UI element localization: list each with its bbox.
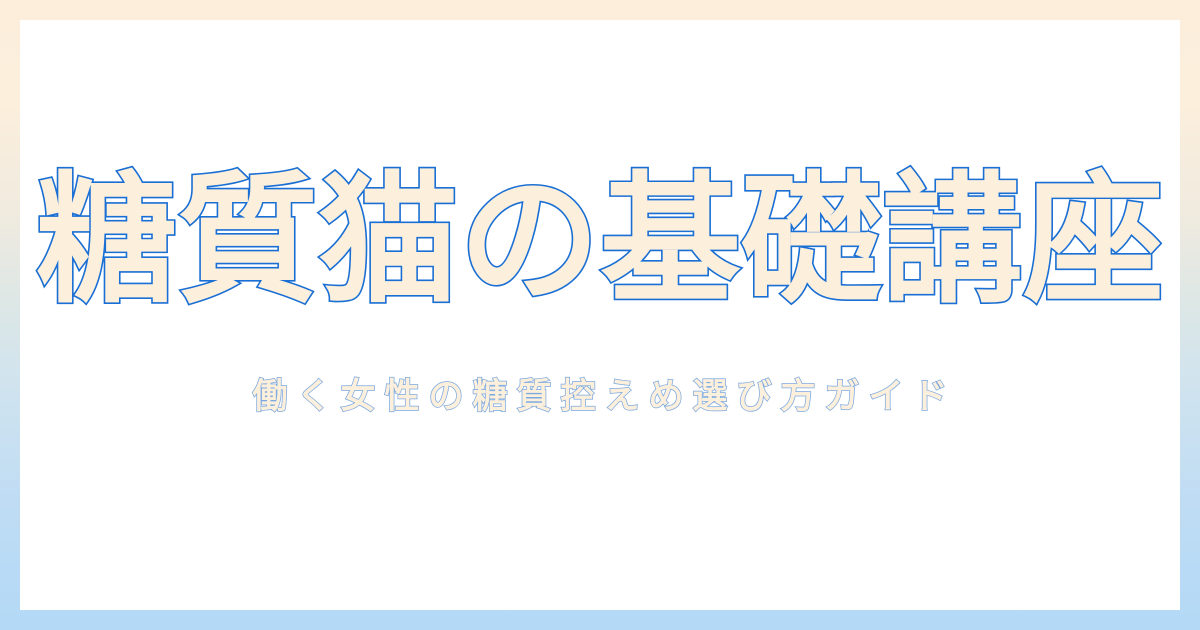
og-image-card: 糖質猫の基礎講座 働く女性の糖質控えめ選び方ガイド: [0, 0, 1200, 630]
page-title: 糖質猫の基礎講座: [36, 168, 1164, 315]
hero-text-stack: 糖質猫の基礎講座 働く女性の糖質控えめ選び方ガイド: [20, 168, 1180, 419]
page-subtitle: 働く女性の糖質控えめ選び方ガイド: [243, 376, 956, 418]
white-content-panel: 糖質猫の基礎講座 働く女性の糖質控えめ選び方ガイド: [20, 20, 1180, 610]
